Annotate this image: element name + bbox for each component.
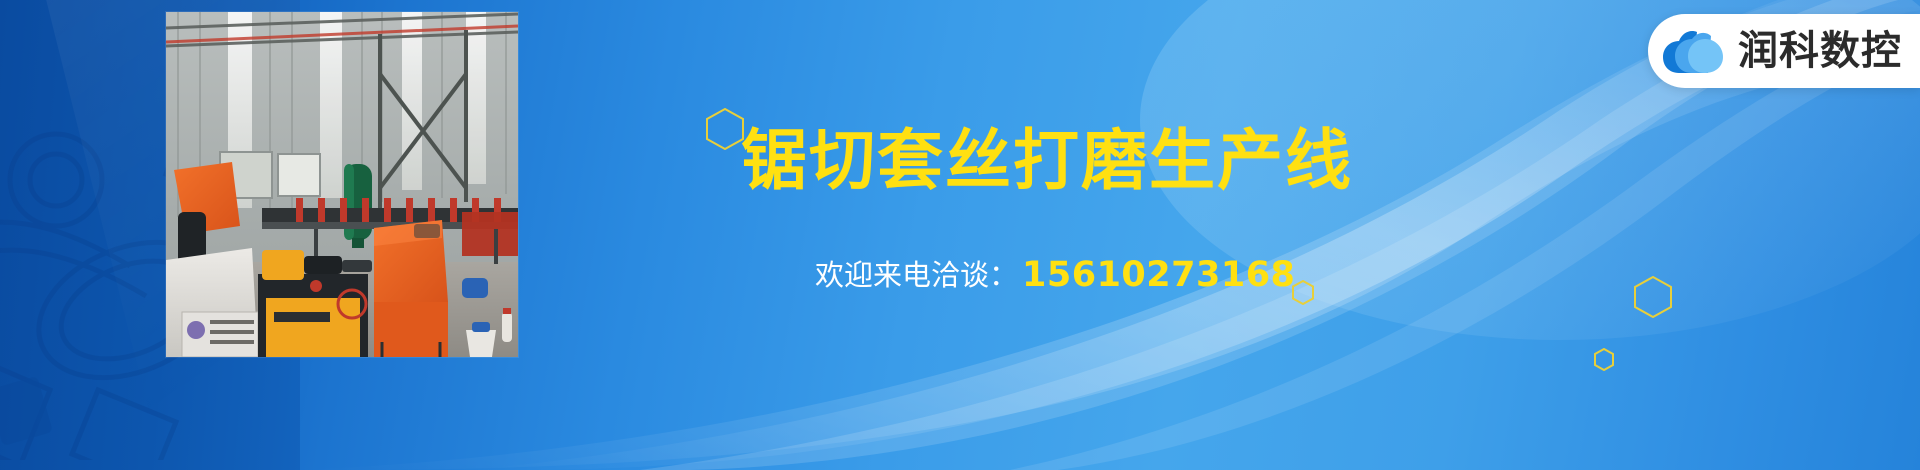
product-photo[interactable] [166,12,518,357]
banner-copy: 锯切套丝打磨生产线 欢迎来电洽谈：15610273168 [735,0,1555,470]
brand-wordmark: 润科数控 [1738,31,1902,71]
hexagon-right-large-icon [1634,276,1672,318]
brand-logo[interactable]: 润科数控 [1648,14,1920,88]
contact-label: 欢迎来电洽谈： [815,258,1018,292]
contact-line: 欢迎来电洽谈：15610273168 [815,258,1295,293]
promo-banner: 锯切套丝打磨生产线 欢迎来电洽谈：15610273168 润科数控 [0,0,1920,470]
contact-phone[interactable]: 15610273168 [1022,255,1295,295]
page-title: 锯切套丝打磨生产线 [741,128,1353,194]
cloud-petals-logo-icon [1662,28,1724,74]
hexagon-right-small-icon [1594,348,1614,371]
